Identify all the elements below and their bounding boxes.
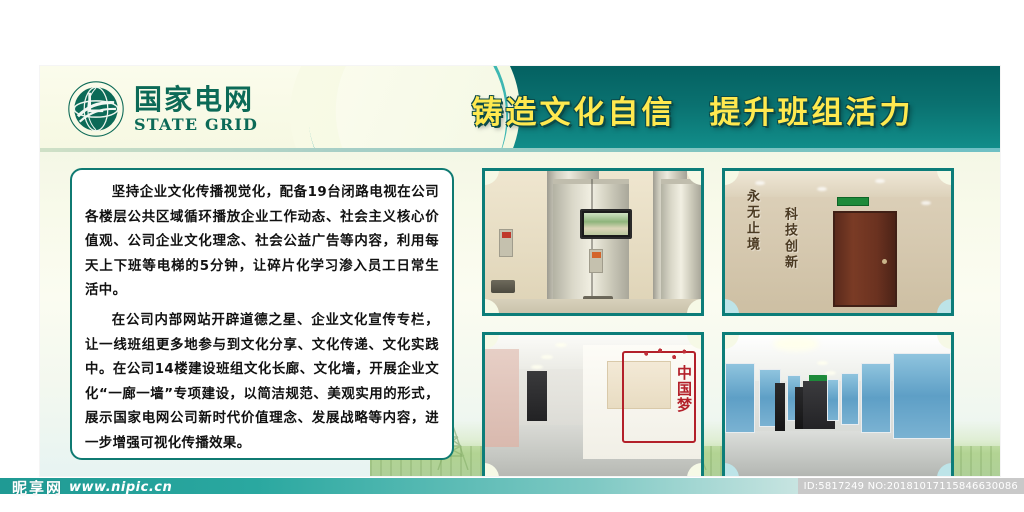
photo-slogan-wall: 永无止境 科技创新 bbox=[722, 168, 954, 316]
photo-elevator-lobby bbox=[482, 168, 704, 316]
photo-culture-corridor-red-image: 中国梦 bbox=[485, 335, 701, 476]
body-paragraph: 在公司内部网站开辟道德之星、企业文化宣传专栏，让一线班组更多地参与到文化分享、文… bbox=[85, 309, 439, 457]
brand-name-block: 国家电网 STATE GRID bbox=[134, 86, 258, 133]
brand-name-en: STATE GRID bbox=[134, 117, 258, 133]
poster-header: 国家电网 STATE GRID 铸造文化自信 提升班组活力 bbox=[40, 66, 1000, 152]
photo-culture-corridor-blue bbox=[722, 332, 954, 476]
wall-slogan-text: 永无止境 bbox=[745, 189, 758, 253]
body-paragraph: 坚持企业文化传播视觉化，配备19台闭路电视在公司各楼层公共区域循环播放企业工作动… bbox=[85, 181, 439, 304]
watermark-site-url: www.nipic.cn bbox=[69, 480, 172, 495]
watermark-bar: 昵享网 www.nipic.cn ID:5817249 NO:201810171… bbox=[0, 478, 1024, 512]
text-card: 坚持企业文化传播视觉化，配备19台闭路电视在公司各楼层公共区域循环播放企业工作动… bbox=[70, 168, 454, 460]
screenshot-canvas: 国家电网 STATE GRID 铸造文化自信 提升班组活力 坚持企业文化传播视觉… bbox=[0, 0, 1024, 512]
state-grid-globe-icon bbox=[67, 80, 125, 138]
photo-culture-corridor-red: 中国梦 bbox=[482, 332, 704, 476]
photo-elevator-lobby-image bbox=[485, 171, 701, 313]
header-underline bbox=[40, 148, 1000, 152]
poster-headline: 铸造文化自信 提升班组活力 bbox=[395, 66, 990, 152]
exit-sign-icon bbox=[837, 197, 869, 206]
exit-sign-icon bbox=[809, 375, 827, 381]
poster: 国家电网 STATE GRID 铸造文化自信 提升班组活力 坚持企业文化传播视觉… bbox=[40, 66, 1000, 476]
ceiling-light bbox=[773, 337, 819, 351]
nipic-watermark: 昵享网 www.nipic.cn bbox=[12, 477, 172, 498]
wall-tv-icon bbox=[580, 209, 632, 239]
photo-slogan-wall-image: 永无止境 科技创新 bbox=[725, 171, 951, 313]
watermark-site-name: 昵享网 bbox=[12, 477, 63, 498]
china-dream-text: 中国梦 bbox=[676, 365, 691, 413]
brand-lockup: 国家电网 STATE GRID bbox=[67, 80, 258, 138]
watermark-id-text: ID:5817249 NO:20181017115846630086 bbox=[798, 478, 1024, 494]
brand-name-cn: 国家电网 bbox=[134, 86, 258, 114]
wall-slogan-text: 科技创新 bbox=[783, 207, 796, 271]
plum-blossom-decoration bbox=[635, 345, 691, 367]
photo-culture-corridor-blue-image bbox=[725, 335, 951, 476]
